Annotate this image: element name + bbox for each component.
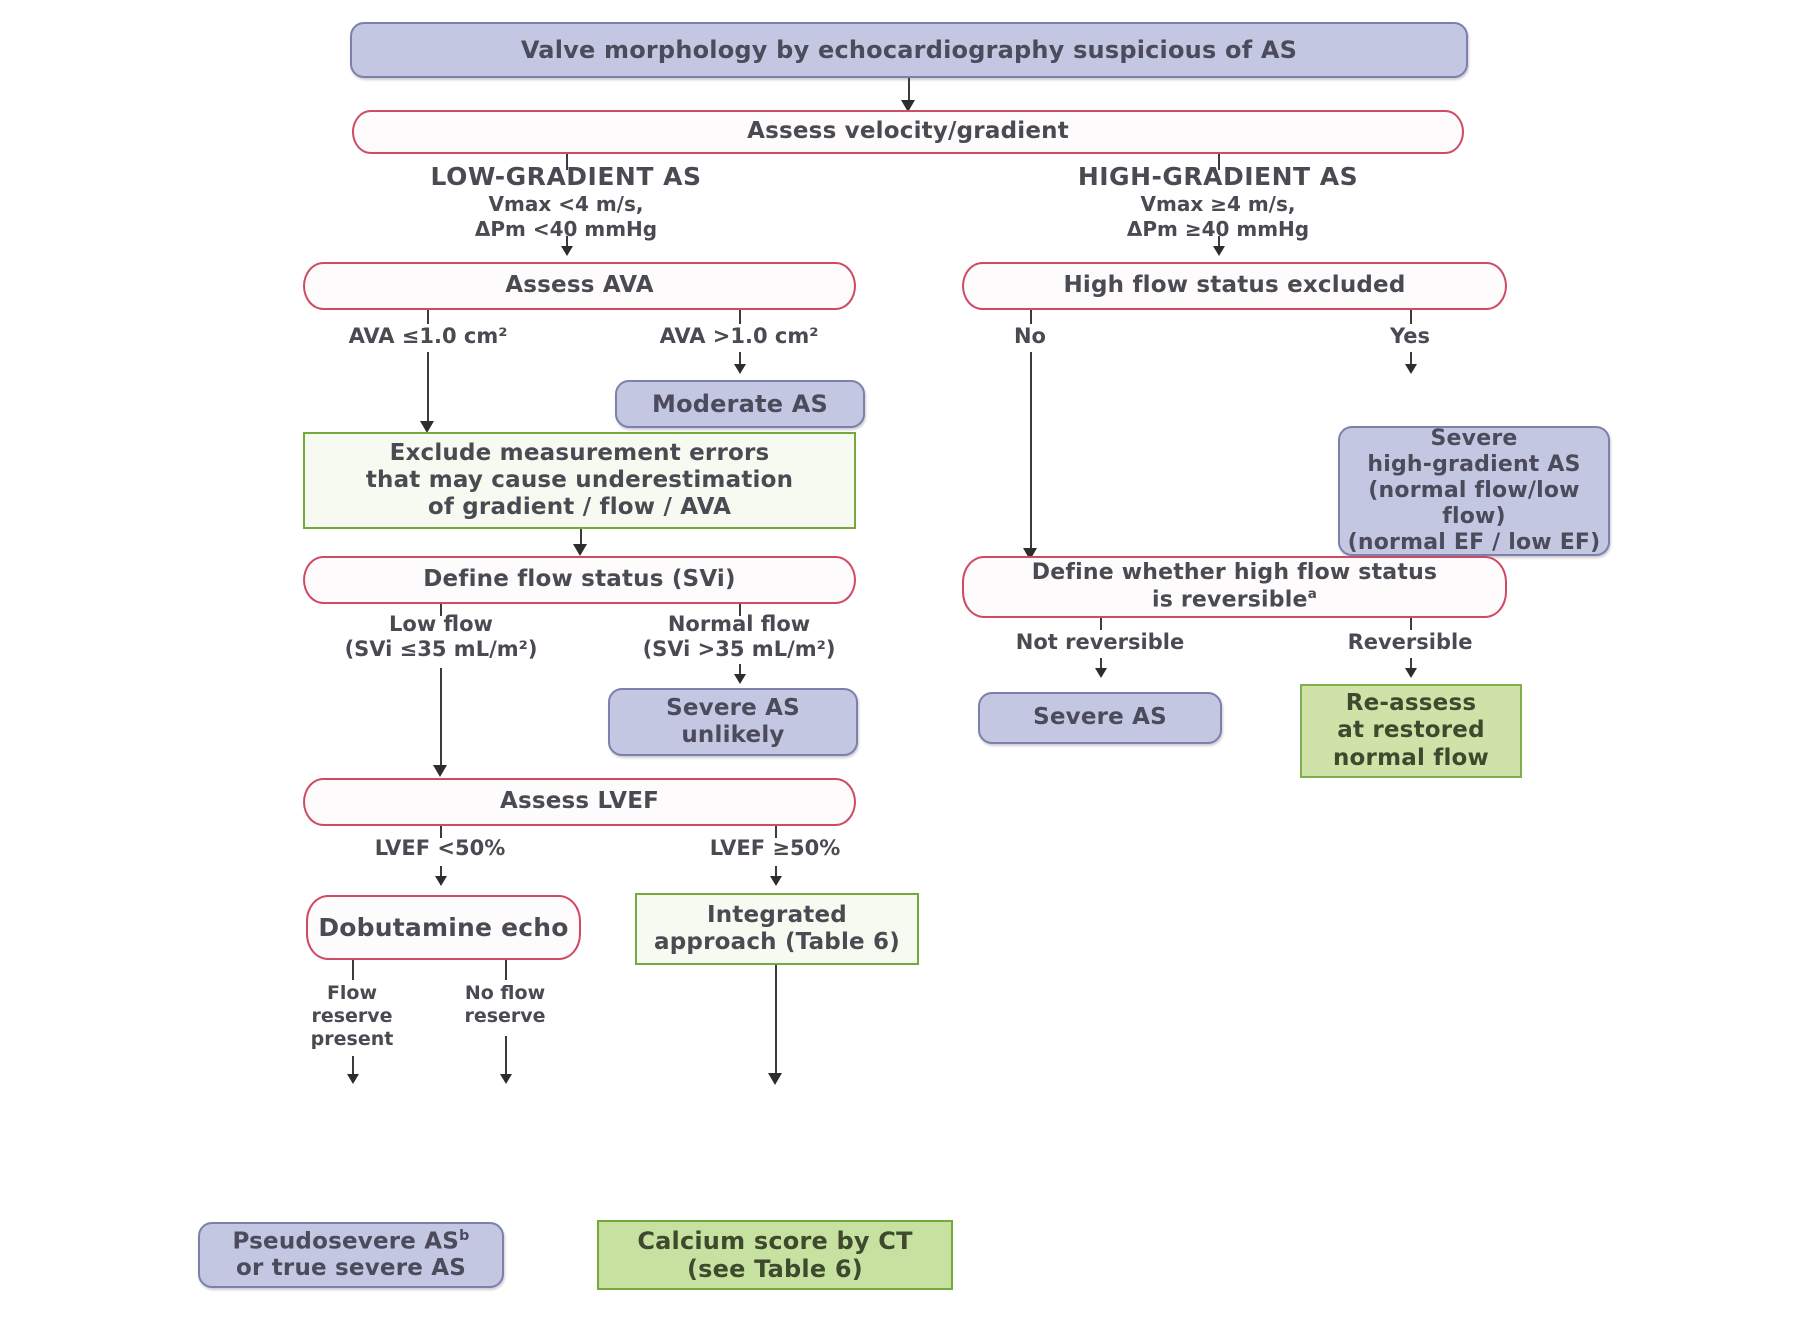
node-pseudosevere-as: Pseudosevere ASb or true severe AS	[198, 1222, 504, 1288]
arrowhead-flow-reserve-to-pseudosevere	[347, 1074, 359, 1084]
label-low-gradient-vmax: Vmax <4 m/s,	[396, 192, 736, 217]
arrowhead-lvef-high-to-integrated	[770, 876, 782, 886]
arrowhead-highflow-yes-to-severe-hg	[1405, 364, 1417, 374]
label-highflow-no: No	[975, 324, 1085, 349]
node-pseudosevere-sup: b	[459, 1228, 469, 1244]
node-reassess-line3: normal flow	[1333, 745, 1489, 772]
connector-highflow-right-stub	[1410, 310, 1412, 324]
arrowhead-integrated-to-calcium	[768, 1073, 782, 1085]
connector-ava-left-stub	[427, 310, 429, 324]
flowchart-canvas: Valve morphology by echocardiography sus…	[0, 0, 1803, 1327]
node-severe-hg-line3: (normal flow/low flow)	[1340, 478, 1608, 530]
node-start: Valve morphology by echocardiography sus…	[350, 22, 1468, 78]
node-severe-as: Severe AS	[978, 692, 1222, 744]
node-reassess: Re-assess at restored normal flow	[1300, 684, 1522, 778]
connector-ava-low-to-exclude	[427, 352, 429, 428]
label-lvef-high: LVEF ≥50%	[671, 836, 879, 861]
node-calcium-line1: Calcium score by CT	[637, 1227, 912, 1255]
connector-dobutamine-right-stub	[505, 960, 507, 980]
label-high-gradient-sub: Vmax ≥4 m/s, ΔPm ≥40 mmHg	[1048, 192, 1388, 242]
arrowhead-no-flow-reserve-to-calcium	[500, 1074, 512, 1084]
node-integrated-line2: approach (Table 6)	[654, 929, 900, 956]
label-ava-high: AVA >1.0 cm²	[628, 324, 850, 349]
node-define-reversible-line2-wrap: is reversiblea	[1152, 586, 1317, 613]
node-dobutamine-echo: Dobutamine echo	[306, 895, 581, 960]
label-low-gradient-sub: Vmax <4 m/s, ΔPm <40 mmHg	[396, 192, 736, 242]
label-low-flow: Low flow (SVi ≤35 mL/m²)	[320, 612, 562, 662]
node-define-reversible-line2: is reversible	[1152, 588, 1308, 613]
node-exclude-errors: Exclude measurement errors that may caus…	[303, 432, 856, 529]
node-assess-velocity-label: Assess velocity/gradient	[747, 118, 1069, 145]
node-severe-as-unlikely: Severe AS unlikely	[608, 688, 858, 756]
node-severe-hg-line2: high-gradient AS	[1367, 452, 1580, 478]
arrowhead-high-gradient-to-high-flow	[1213, 246, 1225, 256]
node-moderate-as-label: Moderate AS	[652, 390, 828, 418]
node-pseudosevere-line2: or true severe AS	[236, 1255, 466, 1282]
node-severe-unlikely-line2: unlikely	[681, 722, 784, 749]
node-integrated-approach: Integrated approach (Table 6)	[635, 893, 919, 965]
arrowhead-reversible-to-reassess	[1405, 668, 1417, 678]
connector-ava-right-stub	[739, 310, 741, 324]
node-assess-ava: Assess AVA	[303, 262, 856, 310]
connector-dobutamine-left-stub	[352, 960, 354, 980]
node-severe-hg-line4: (normal EF / low EF)	[1348, 530, 1601, 556]
arrowhead-exclude-to-define-flow	[573, 544, 587, 556]
arrowhead-low-flow-to-assess-lvef	[433, 765, 447, 777]
node-exclude-errors-line2: that may cause underestimation	[366, 467, 793, 494]
label-no-flow-reserve: No flow reserve	[425, 982, 585, 1028]
node-reassess-line2: at restored	[1337, 717, 1485, 744]
node-pseudosevere-line1: Pseudosevere AS	[233, 1228, 460, 1254]
node-define-reversible-sup: a	[1308, 586, 1317, 602]
connector-reversible-right-stub	[1410, 618, 1412, 630]
node-severe-high-gradient-as: Severe high-gradient AS (normal flow/low…	[1338, 426, 1610, 556]
node-integrated-line1: Integrated	[707, 902, 847, 929]
label-high-gradient-vmax: Vmax ≥4 m/s,	[1048, 192, 1388, 217]
node-define-reversible: Define whether high flow status is rever…	[962, 556, 1507, 618]
node-start-label: Valve morphology by echocardiography sus…	[521, 36, 1297, 64]
node-calcium-line2: (see Table 6)	[687, 1255, 863, 1283]
node-severe-as-label: Severe AS	[1033, 704, 1167, 731]
node-moderate-as: Moderate AS	[615, 380, 865, 428]
label-not-reversible: Not reversible	[988, 630, 1212, 655]
connector-integrated-to-calcium	[775, 965, 777, 1080]
connector-highflow-left-stub	[1030, 310, 1032, 324]
node-define-flow-status-label: Define flow status (SVi)	[423, 566, 735, 593]
label-normal-flow: Normal flow (SVi >35 mL/m²)	[618, 612, 860, 662]
connector-reversible-left-stub	[1100, 618, 1102, 630]
node-define-reversible-line1: Define whether high flow status	[1032, 560, 1437, 586]
node-severe-unlikely-line1: Severe AS	[666, 695, 800, 722]
node-dobutamine-echo-label: Dobutamine echo	[318, 913, 568, 943]
arrowhead-lvef-low-to-dobutamine	[435, 876, 447, 886]
label-reversible: Reversible	[1305, 630, 1515, 655]
label-high-gradient-title: HIGH-GRADIENT AS	[1048, 162, 1388, 192]
node-high-flow-excluded: High flow status excluded	[962, 262, 1507, 310]
node-assess-velocity: Assess velocity/gradient	[352, 110, 1464, 154]
label-lvef-low: LVEF <50%	[336, 836, 544, 861]
node-assess-lvef-label: Assess LVEF	[500, 788, 659, 815]
node-assess-lvef: Assess LVEF	[303, 778, 856, 826]
label-ava-low: AVA ≤1.0 cm²	[317, 324, 539, 349]
label-highflow-yes: Yes	[1355, 324, 1465, 349]
node-severe-hg-line1: Severe	[1431, 426, 1518, 452]
node-exclude-errors-line3: of gradient / flow / AVA	[428, 494, 731, 521]
arrowhead-low-gradient-to-assess-ava	[561, 246, 573, 256]
node-assess-ava-label: Assess AVA	[505, 272, 653, 299]
node-high-flow-excluded-label: High flow status excluded	[1063, 272, 1405, 299]
arrowhead-not-reversible-to-severe-as	[1095, 668, 1107, 678]
connector-highflow-no-to-define-reversible	[1030, 352, 1032, 554]
node-define-flow-status: Define flow status (SVi)	[303, 556, 856, 604]
node-exclude-errors-line1: Exclude measurement errors	[390, 440, 770, 467]
connector-low-flow-to-assess-lvef	[440, 668, 442, 772]
node-pseudosevere-line1-wrap: Pseudosevere ASb	[233, 1228, 470, 1256]
arrowhead-normal-flow-to-severe-unlikely	[734, 674, 746, 684]
arrowhead-ava-high-to-moderate	[734, 364, 746, 374]
label-flow-reserve-present: Flow reserve present	[272, 982, 432, 1050]
node-reassess-line1: Re-assess	[1346, 690, 1477, 717]
node-calcium-score: Calcium score by CT (see Table 6)	[597, 1220, 953, 1290]
label-low-gradient-title: LOW-GRADIENT AS	[396, 162, 736, 192]
